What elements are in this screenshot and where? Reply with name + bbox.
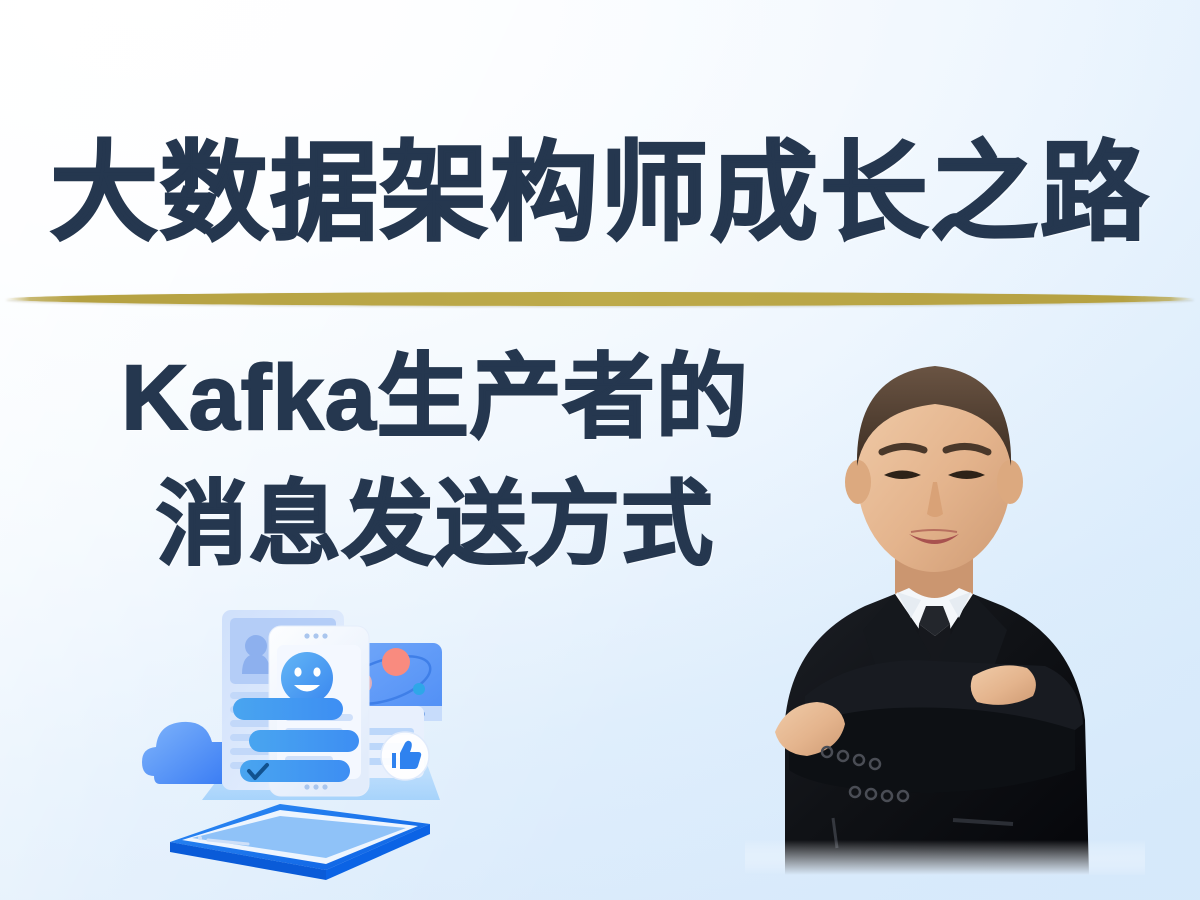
presenter-photo (745, 300, 1145, 875)
title-block: 大数据架构师成长之路 (0, 138, 1200, 248)
page-title: 大数据架构师成长之路 (0, 138, 1200, 248)
coral-dot (382, 648, 410, 676)
thumbnail-canvas: 大数据架构师成长之路 Kafka生产者的 消息发送方式 (0, 0, 1200, 900)
message-cards-illustration (130, 588, 500, 888)
message-pills (233, 698, 359, 782)
subtitle-block: Kafka生产者的 消息发送方式 (40, 335, 830, 589)
thumbs-up-icon (392, 753, 396, 768)
avatar (245, 635, 267, 657)
photo-bottom-fade (745, 840, 1145, 875)
thumbs-up-badge (381, 732, 429, 780)
subtitle-line-2: 消息发送方式 (40, 462, 830, 589)
subtitle-line-1: Kafka生产者的 (40, 335, 830, 462)
tablet-device (170, 804, 430, 880)
ear-left (845, 460, 871, 504)
cloud-icon (142, 722, 222, 784)
ear-right (997, 460, 1023, 504)
smiley-icon (281, 652, 333, 704)
pill-1 (233, 698, 343, 720)
cyan-dot (413, 683, 425, 695)
pill-2 (249, 730, 359, 752)
